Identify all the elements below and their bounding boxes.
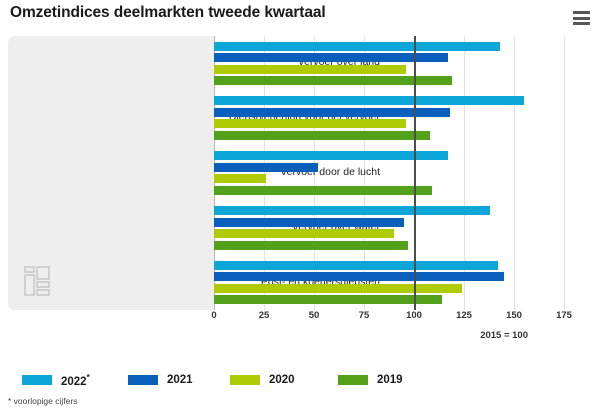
axis-note: 2015 = 100 <box>8 330 528 341</box>
bar-2022-1[interactable] <box>214 96 524 105</box>
cbs-logo-icon <box>24 266 50 296</box>
bar-2019-3[interactable] <box>214 241 408 250</box>
menu-bar-3 <box>573 22 590 25</box>
bar-2020-1[interactable] <box>214 119 406 128</box>
legend-swatch-2019 <box>338 375 368 385</box>
x-tick-label: 25 <box>259 310 270 321</box>
bar-2019-1[interactable] <box>214 131 430 140</box>
plot-area: Vervoer over landDienstverlening voor he… <box>8 36 592 310</box>
legend-item-2020[interactable]: 2020 <box>230 372 295 388</box>
bar-2022-2[interactable] <box>214 151 448 160</box>
x-tick-label: 150 <box>506 310 522 321</box>
legend-label: 2020 <box>269 374 295 386</box>
legend-item-2022[interactable]: 2022* <box>22 372 90 388</box>
x-tick-label: 100 <box>406 310 422 321</box>
bar-2021-4[interactable] <box>214 272 504 281</box>
legend-item-2021[interactable]: 2021 <box>128 372 193 388</box>
legend-label: 2022* <box>61 373 90 388</box>
reference-line-100 <box>414 36 416 310</box>
gridline-175 <box>564 36 565 310</box>
x-tick-label: 175 <box>556 310 572 321</box>
legend-item-2019[interactable]: 2019 <box>338 372 403 388</box>
bar-2021-2[interactable] <box>214 163 318 172</box>
bar-2021-0[interactable] <box>214 53 448 62</box>
gridline-150 <box>514 36 515 310</box>
footnote: * voorlopige cijfers <box>8 396 77 406</box>
menu-bar-1 <box>573 11 590 14</box>
bar-2022-0[interactable] <box>214 42 500 51</box>
chart-container: Omzetindices deelmarkten tweede kwartaal <box>0 0 600 414</box>
bar-2021-3[interactable] <box>214 218 404 227</box>
menu-bar-2 <box>573 17 590 20</box>
bar-2019-4[interactable] <box>214 295 442 304</box>
x-tick-label: 75 <box>359 310 370 321</box>
bar-2020-0[interactable] <box>214 65 406 74</box>
hamburger-menu-icon[interactable] <box>573 11 590 25</box>
legend-swatch-2020 <box>230 375 260 385</box>
bar-2022-4[interactable] <box>214 261 498 270</box>
x-tick-label: 125 <box>456 310 472 321</box>
legend-footnote-marker: * <box>87 373 90 382</box>
bar-2020-2[interactable] <box>214 174 266 183</box>
x-tick-label: 0 <box>211 310 216 321</box>
page-title: Omzetindices deelmarkten tweede kwartaal <box>10 4 326 22</box>
bar-2020-3[interactable] <box>214 229 394 238</box>
bar-2020-4[interactable] <box>214 284 462 293</box>
legend-label: 2019 <box>377 374 403 386</box>
bar-2019-2[interactable] <box>214 186 432 195</box>
legend-swatch-2022 <box>22 375 52 385</box>
chart-header: Omzetindices deelmarkten tweede kwartaal <box>0 0 600 36</box>
legend-swatch-2021 <box>128 375 158 385</box>
chart-legend: 2022*202120202019 <box>8 372 592 388</box>
bar-2019-0[interactable] <box>214 76 452 85</box>
x-tick-label: 50 <box>309 310 320 321</box>
bar-2022-3[interactable] <box>214 206 490 215</box>
legend-label: 2021 <box>167 374 193 386</box>
